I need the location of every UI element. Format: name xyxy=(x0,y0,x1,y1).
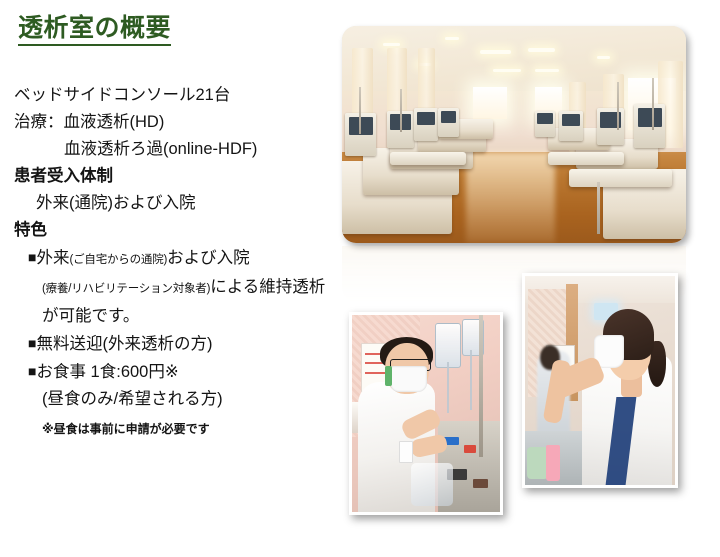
feature-outpatient-main: 外来 xyxy=(36,249,69,267)
ceiling-light xyxy=(383,43,400,46)
body-text-block: ベッドサイドコンソール21台 治療：血液透析(HD) 血液透析ろ過(online… xyxy=(14,82,340,441)
ceiling-light xyxy=(493,69,521,72)
feature-maintenance-note: (療養/リハビリテーション対象者) xyxy=(42,283,210,295)
line-admission-body: 外来(通院)および入院 xyxy=(14,190,340,217)
face-mask xyxy=(390,366,427,392)
overbed-table xyxy=(569,169,672,186)
feature-meal-detail: (昼食のみ/希望される方) xyxy=(14,386,340,413)
feature-shuttle: ■無料送迎(外来透析の方) xyxy=(14,330,340,358)
feature-meal-main: お食事 1食:600円※ xyxy=(36,363,178,381)
bedside-console xyxy=(438,108,459,136)
bedside-console xyxy=(414,108,438,141)
text-column: 透析室の概要 ベッドサイドコンソール21台 治療：血液透析(HD) 血液透析ろ過… xyxy=(0,0,340,557)
line-treatment-hd: 治療：血液透析(HD) xyxy=(14,109,340,136)
feature-outpatient: ■外来(ご自宅からの通院)および入院 xyxy=(14,244,340,274)
sanitizer-bottle xyxy=(546,445,560,481)
feature-meal: ■お食事 1食:600円※ xyxy=(14,358,340,386)
overbed-table xyxy=(548,152,624,165)
overbed-table xyxy=(390,152,466,165)
page-title: 透析室の概要 xyxy=(18,14,171,46)
heading-admission: 患者受入体制 xyxy=(14,163,340,190)
iv-pole xyxy=(359,87,361,135)
footnote: ※昼食は事前に申請が必要です xyxy=(14,417,340,441)
dialysis-room-photo xyxy=(342,26,686,243)
window xyxy=(473,87,507,120)
iv-pole xyxy=(617,82,619,130)
iv-pole xyxy=(652,78,654,130)
table-leg xyxy=(597,182,600,234)
ceiling-light xyxy=(597,56,611,59)
feature-possible: が可能です。 xyxy=(14,303,340,330)
male-staff-photo xyxy=(349,312,503,515)
feature-maintenance-tail: による維持透析 xyxy=(210,278,325,296)
iv-pole xyxy=(400,89,402,132)
floor-reflection xyxy=(466,152,555,243)
bedside-console xyxy=(597,108,625,145)
room-scene xyxy=(342,26,686,243)
supply-bags xyxy=(411,463,452,506)
mask-strap xyxy=(385,366,392,386)
id-badge xyxy=(399,441,413,463)
line-beds: ベッドサイドコンソール21台 xyxy=(14,82,340,109)
iv-tube xyxy=(470,350,472,409)
green-item xyxy=(527,447,548,478)
bedside-console xyxy=(535,111,556,137)
feature-maintenance: (療養/リハビリテーション対象者)による維持透析 xyxy=(14,274,340,303)
bedside-console xyxy=(634,104,665,147)
machine-indicator xyxy=(464,445,476,453)
machine-indicator xyxy=(473,479,488,489)
ceiling-light xyxy=(480,50,511,54)
heading-features: 特色 xyxy=(14,217,340,244)
feature-outpatient-note: (ご自宅からの通院) xyxy=(69,254,167,266)
ceiling-light xyxy=(528,48,556,52)
bedside-console xyxy=(559,111,583,141)
female-staff-photo xyxy=(522,273,678,488)
iv-pole xyxy=(479,315,483,457)
iv-tube xyxy=(447,362,449,413)
ceiling-light xyxy=(535,69,559,72)
ceiling-light xyxy=(445,37,459,40)
feature-outpatient-tail: および入院 xyxy=(167,249,250,267)
line-treatment-hdf: 血液透析ろ過(online-HDF) xyxy=(14,136,340,163)
feature-shuttle-main: 無料送迎(外来透析の方) xyxy=(36,335,212,353)
